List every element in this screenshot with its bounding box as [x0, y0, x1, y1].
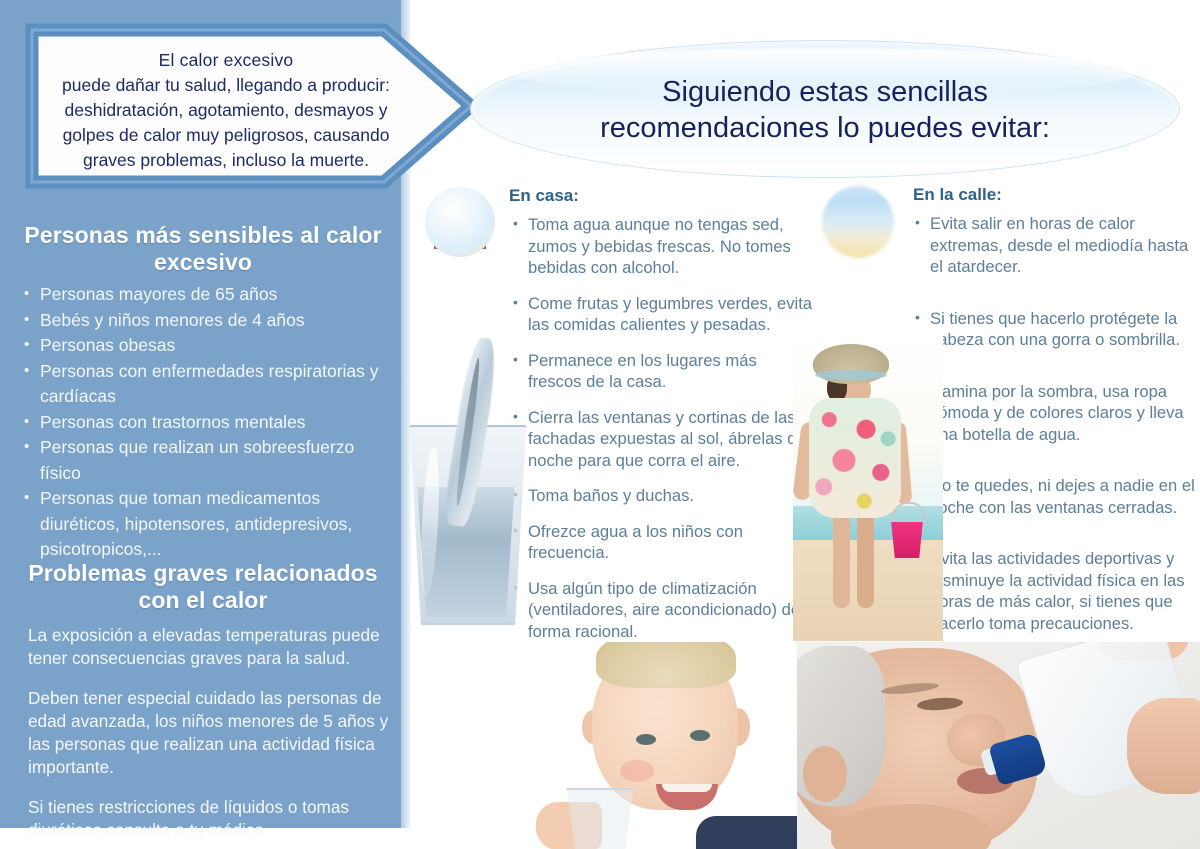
- callout-line-2: puede dañar tu salud, llegando a produci…: [46, 73, 406, 98]
- list-item: Bebés y niños menores de 4 años: [24, 308, 396, 334]
- list-item: Come frutas y legumbres verdes, evita la…: [513, 293, 813, 336]
- paragraph: La exposición a elevadas temperaturas pu…: [28, 624, 394, 670]
- list-item: Camina por la sombra, usa ropa cómoda y …: [915, 381, 1200, 446]
- list-item: Personas obesas: [24, 333, 396, 359]
- header-ellipse-banner: Siguiendo estas sencillas recomendacione…: [470, 40, 1180, 178]
- heat-wave-infographic: El calor excesivo puede dañar tu salud, …: [0, 0, 1200, 849]
- en-la-calle-list: Evita salir en horas de calor extremas, …: [915, 213, 1200, 664]
- glass-of-water-photo: [398, 337, 548, 627]
- girl-floral-dress: [809, 398, 901, 518]
- list-item: Si tienes que hacerlo protégete la cabez…: [915, 308, 1200, 351]
- en-la-calle-heading: En la calle:: [913, 185, 1002, 205]
- pink-bucket: [889, 522, 925, 558]
- list-item: Personas que realizan un sobreesfuerzo f…: [24, 435, 396, 486]
- list-item: No te quedes, ni dejes a nadie en el coc…: [915, 475, 1200, 518]
- toddler-left-eye: [636, 734, 656, 745]
- list-item: Cierra las ventanas y cortinas de las fa…: [513, 407, 813, 472]
- list-item: Personas que toman medicamentos diurétic…: [24, 486, 396, 563]
- en-casa-list: Toma agua aunque no tengas sed, zumos y …: [513, 214, 813, 656]
- callout-line-3: deshidratación, agotamiento, desmayos y: [46, 98, 406, 123]
- callout-line-4: golpes de calor muy peligrosos, causando: [46, 123, 406, 148]
- toddler-hair: [596, 642, 736, 688]
- header-line-2: recomendaciones lo puedes evitar:: [470, 110, 1180, 146]
- list-item: Evita salir en horas de calor extremas, …: [915, 213, 1200, 278]
- serious-problems-title: Problemas graves relacionados con el cal…: [18, 560, 388, 614]
- list-item: Toma agua aunque no tengas sed, zumos y …: [513, 214, 813, 279]
- list-item: Usa algún tipo de climatización (ventila…: [513, 578, 813, 643]
- helper-hand: [1127, 698, 1200, 794]
- toddler-cheek: [620, 760, 654, 782]
- list-item: Evita las actividades deportivas y dismi…: [915, 548, 1200, 634]
- girl-left-leg: [833, 512, 850, 608]
- list-item: Ofrezce agua a los niños con frecuencia.: [513, 521, 813, 564]
- toddler-shirt: [696, 816, 798, 849]
- list-item: Toma baños y duchas.: [513, 485, 813, 507]
- sun-icon-disc: [822, 186, 894, 258]
- callout-text: El calor excesivo puede dañar tu salud, …: [46, 48, 406, 173]
- sun-sky-icon: [822, 186, 894, 258]
- house-icon: [419, 183, 501, 263]
- paragraph: Deben tener especial cuidado las persona…: [28, 687, 394, 779]
- house-icon-halo: [425, 187, 495, 257]
- callout-line-1: El calor excesivo: [46, 48, 406, 73]
- girl-right-leg: [857, 512, 874, 608]
- toddler-with-glass-photo: [500, 642, 798, 849]
- page-title: Siguiendo estas sencillas recomendacione…: [470, 74, 1180, 146]
- elder-ear: [803, 746, 847, 802]
- toddler-teeth: [662, 784, 712, 792]
- list-item: Personas con enfermedades respiratorias …: [24, 359, 396, 410]
- elderly-man-drinking-water-photo: [797, 642, 1200, 849]
- en-casa-heading: En casa:: [509, 186, 579, 206]
- girl-on-beach-photo: [793, 336, 943, 641]
- warning-callout: El calor excesivo puede dañar tu salud, …: [24, 22, 479, 190]
- callout-line-5: graves problemas, incluso la muerte.: [46, 148, 406, 173]
- header-line-1: Siguiendo estas sencillas: [470, 74, 1180, 110]
- toddler-right-eye: [690, 730, 710, 741]
- sensitive-people-list: Personas mayores de 65 años Bebés y niño…: [24, 282, 396, 563]
- list-item: Permanece en los lugares más frescos de …: [513, 350, 813, 393]
- serious-problems-body: La exposición a elevadas temperaturas pu…: [28, 624, 394, 849]
- list-item: Personas con trastornos mentales: [24, 410, 396, 436]
- list-item: Personas mayores de 65 años: [24, 282, 396, 308]
- sensitive-people-title: Personas más sensibles al calor excesivo: [18, 222, 388, 276]
- paragraph: Si tienes restricciones de líquidos o to…: [28, 796, 394, 842]
- girl-hat-band: [815, 370, 887, 380]
